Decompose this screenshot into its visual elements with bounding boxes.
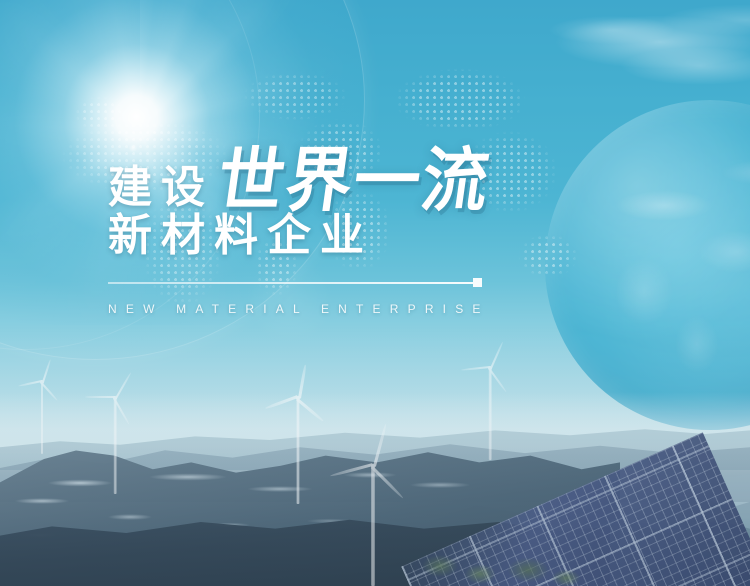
turbine-tower — [371, 466, 375, 586]
turbine-blade — [18, 380, 42, 387]
turbine-blade — [371, 466, 404, 499]
divider-end-cap — [473, 278, 482, 287]
headline-block: 建设 世界一流 新材料企业 NEW MATERIAL ENTERPRISE — [108, 128, 628, 316]
turbine-tower — [297, 398, 300, 504]
turbine-blade — [41, 382, 59, 401]
headline-line-1: 建设 世界一流 — [108, 128, 628, 210]
wind-turbine — [468, 368, 512, 460]
wind-turbine — [272, 398, 324, 504]
turbine-blade — [296, 398, 324, 422]
wind-turbine — [22, 382, 62, 454]
turbine-blade — [85, 396, 115, 398]
turbine-tower — [489, 368, 492, 460]
wind-turbine — [336, 466, 410, 586]
headline-emphasis: 世界一流 — [213, 146, 495, 216]
divider-rule — [108, 282, 473, 284]
hero-banner: 建设 世界一流 新材料企业 NEW MATERIAL ENTERPRISE — [0, 0, 750, 586]
foreground-shrubs — [410, 526, 600, 586]
headline-prefix: 建设 — [108, 166, 214, 210]
wind-turbine — [92, 398, 138, 494]
turbine-blade — [330, 463, 373, 477]
turbine-tower — [41, 382, 43, 454]
turbine-tower — [114, 398, 117, 494]
subtitle-text: NEW MATERIAL ENTERPRISE — [108, 302, 628, 316]
